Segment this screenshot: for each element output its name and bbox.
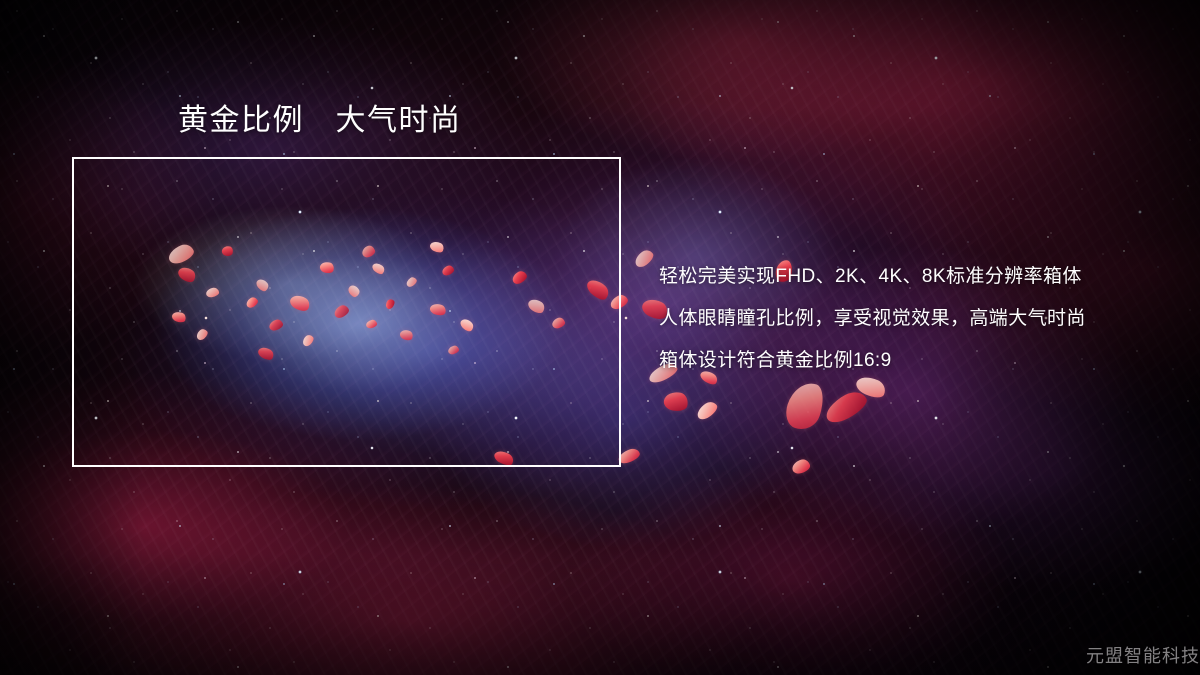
flower-petal (791, 458, 812, 475)
flower-petal (632, 247, 656, 269)
flower-petal (662, 390, 689, 414)
slide-title: 黄金比例 大气时尚 (178, 101, 462, 141)
body-line-2: 人体眼睛瞳孔比例，享受视觉效果，高端大气时尚 (659, 298, 1179, 340)
body-line-3: 箱体设计符合黄金比例16:9 (659, 340, 1179, 382)
body-text-block: 轻松完美实现FHD、2K、4K、8K标准分辨率箱体 人体眼睛瞳孔比例，享受视觉效… (659, 256, 1179, 382)
flower-petal (781, 378, 828, 434)
flower-petal (821, 387, 870, 427)
presentation-slide: 黄金比例 大气时尚 轻松完美实现FHD、2K、4K、8K标准分辨率箱体 人体眼睛… (0, 0, 1200, 675)
nebula-photo-frame (72, 157, 621, 467)
flower-petal (694, 399, 720, 422)
company-watermark: 元盟智能科技 (1086, 645, 1200, 667)
body-line-1: 轻松完美实现FHD、2K、4K、8K标准分辨率箱体 (659, 256, 1179, 298)
